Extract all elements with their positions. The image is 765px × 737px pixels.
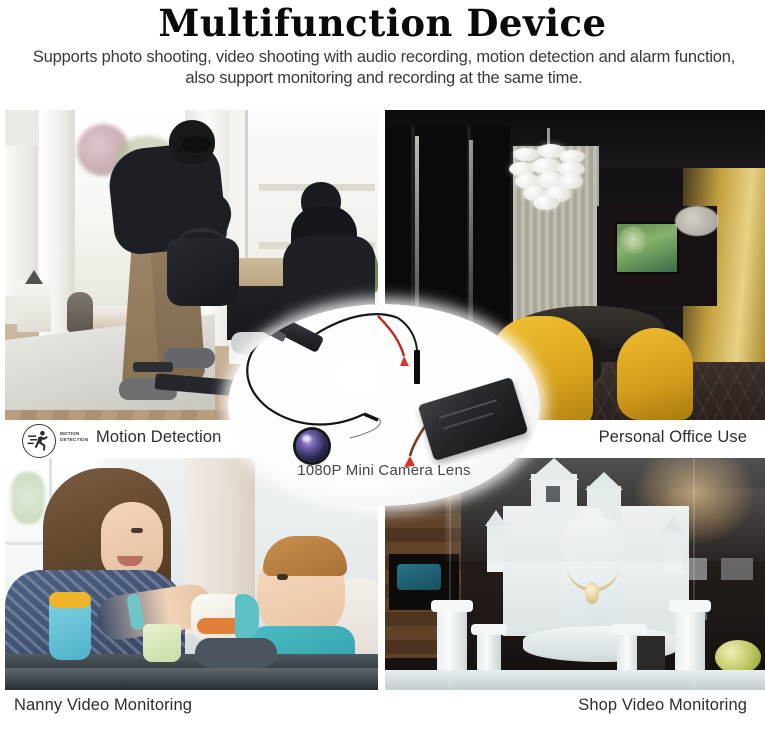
- label-motion-detection: Motion Detection: [96, 428, 221, 447]
- motion-detection-badge-text: MOTION DETECTION: [60, 431, 94, 442]
- label-nanny-video-monitoring: Nanny Video Monitoring: [14, 696, 192, 715]
- label-personal-office-use: Personal Office Use: [599, 428, 747, 447]
- page-subtitle: Supports photo shooting, video shooting …: [28, 47, 740, 89]
- badge-line-2: DETECTION: [60, 437, 94, 443]
- yellow-chair-right: [617, 328, 693, 420]
- camera-lens: [296, 430, 328, 462]
- page-title: Multifunction Device: [0, 2, 765, 44]
- antenna: [414, 350, 420, 384]
- product-marketing-image: Multifunction Device Supports photo shoo…: [0, 0, 765, 737]
- running-man-icon: [22, 424, 56, 458]
- pendant-chandelier: [509, 134, 589, 212]
- product-caption: 1080P Mini Camera Lens: [228, 462, 540, 479]
- label-shop-video-monitoring: Shop Video Monitoring: [578, 696, 747, 715]
- product-callout-oval: 1080P Mini Camera Lens: [228, 304, 540, 506]
